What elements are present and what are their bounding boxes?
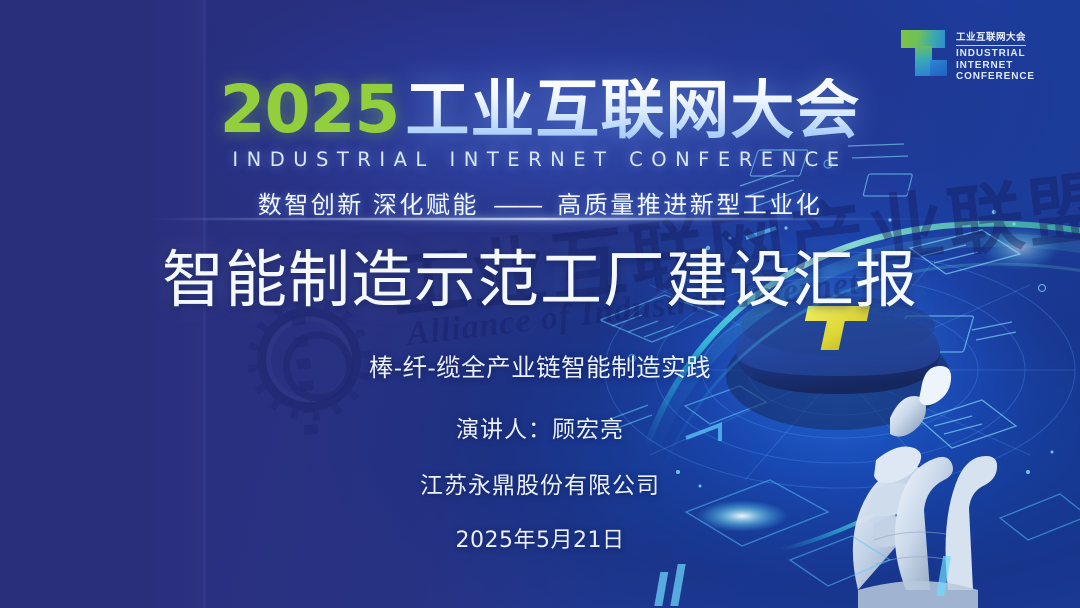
page-title: 智能制造示范工厂建设汇报 <box>0 248 1080 315</box>
banner-slogan-right: 高质量推进新型工业化 <box>557 192 822 219</box>
conference-logo-en-line-1: INDUSTRIAL <box>956 48 1035 60</box>
t-logo-mark-icon <box>898 24 950 78</box>
slide-body: 智能制造示范工厂建设汇报 棒-纤-缆全产业链智能制造实践 演讲人：顾宏亮 江苏永… <box>0 248 1080 554</box>
banner-slogan-dash: —— <box>488 192 548 219</box>
conference-logo-cn: 工业互联网大会 <box>956 29 1026 46</box>
banner-title-row: 2025 工业互联网大会 <box>0 78 1080 142</box>
banner-conference-cn: 工业互联网大会 <box>405 78 860 142</box>
date-line: 2025年5月21日 <box>0 522 1080 554</box>
banner-slogan: 数智创新 深化赋能 —— 高质量推进新型工业化 <box>0 185 1080 220</box>
banner-conference-en: INDUSTRIAL INTERNET CONFERENCE <box>0 148 1080 171</box>
conference-logo-en-line-2: INTERNET <box>956 60 1035 72</box>
page-subtitle: 棒-纤-缆全产业链智能制造实践 <box>0 349 1080 384</box>
presentation-slide: 工业互联网产业联盟 Alliance of Industrial Interne… <box>0 0 1080 608</box>
conference-logo-text: 工业互联网大会 INDUSTRIAL INTERNET CONFERENCE <box>956 24 1035 83</box>
speaker-line: 演讲人：顾宏亮 <box>0 410 1080 444</box>
banner-year: 2025 <box>220 79 400 142</box>
conference-banner: 2025 工业互联网大会 INDUSTRIAL INTERNET CONFERE… <box>0 78 1080 220</box>
company-line: 江苏永鼎股份有限公司 <box>0 466 1080 500</box>
banner-slogan-left: 数智创新 深化赋能 <box>258 192 479 219</box>
t-logo-block <box>930 60 947 76</box>
